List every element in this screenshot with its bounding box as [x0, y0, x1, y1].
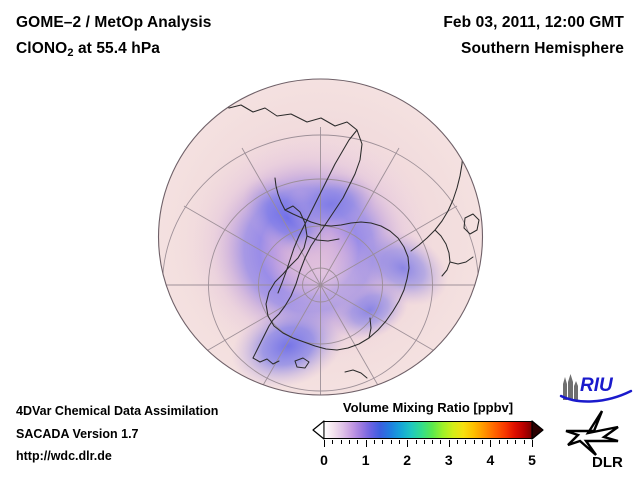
colorbar-major-tick [366, 440, 367, 447]
colorbar-minor-tick [399, 440, 400, 444]
colorbar-minor-tick [357, 440, 358, 444]
colorbar-major-tick [532, 440, 533, 447]
colorbar-tick-label: 3 [445, 452, 453, 468]
colorbar-major-tick [490, 440, 491, 447]
colorbar-tick-label: 1 [362, 452, 370, 468]
colorbar-tick-label: 4 [486, 452, 494, 468]
colorbar-strip [312, 420, 544, 440]
riu-tower-icon [563, 374, 578, 400]
colorbar-minor-tick [515, 440, 516, 444]
region-label: Southern Hemisphere [443, 36, 624, 62]
colorbar-tick-label: 5 [528, 452, 536, 468]
colorbar-right-cap [532, 421, 543, 439]
colorbar-ticks [324, 440, 532, 452]
globe-svg [157, 78, 484, 396]
colorbar-minor-tick [474, 440, 475, 444]
colorbar-title: Volume Mixing Ratio [ppbv] [312, 400, 544, 415]
colorbar-minor-tick [482, 440, 483, 444]
colorbar-minor-tick [524, 440, 525, 444]
globe-map [157, 78, 484, 396]
globe-field [159, 79, 483, 396]
colorbar-major-tick [324, 440, 325, 447]
colorbar-left-cap [313, 421, 324, 439]
colorbar-tick-label: 2 [403, 452, 411, 468]
header-left-block: GOME–2 / MetOp Analysis ClONO2 at 55.4 h… [16, 10, 212, 66]
colorbar-minor-tick [507, 440, 508, 444]
instrument-title: GOME–2 / MetOp Analysis [16, 10, 212, 36]
colorbar-minor-tick [432, 440, 433, 444]
datetime-label: Feb 03, 2011, 12:00 GMT [443, 10, 624, 36]
footer-credits: 4DVar Chemical Data Assimilation SACADA … [16, 400, 218, 468]
colorbar-major-tick [407, 440, 408, 447]
colorbar-minor-tick [374, 440, 375, 444]
riu-wordmark: RIU [580, 375, 614, 396]
colorbar-minor-tick [499, 440, 500, 444]
dlr-bird-icon [566, 411, 618, 455]
colorbar-minor-tick [465, 440, 466, 444]
dlr-logo: DLR [558, 407, 634, 471]
colorbar-minor-tick [349, 440, 350, 444]
colorbar-tick-label: 0 [320, 452, 328, 468]
species-name: ClONO [16, 40, 67, 57]
header-right-block: Feb 03, 2011, 12:00 GMT Southern Hemisph… [443, 10, 624, 62]
colorbar-minor-tick [440, 440, 441, 444]
colorbar-minor-tick [332, 440, 333, 444]
colorbar-tick-labels: 012345 [324, 452, 532, 472]
colorbar-minor-tick [457, 440, 458, 444]
riu-logo: RIU [557, 372, 635, 404]
species-title: ClONO2 at 55.4 hPa [16, 36, 212, 66]
colorbar-minor-tick [341, 440, 342, 444]
colorbar-minor-tick [391, 440, 392, 444]
footer-line-2: SACADA Version 1.7 [16, 423, 218, 446]
colorbar-minor-tick [416, 440, 417, 444]
colorbar-minor-tick [382, 440, 383, 444]
colorbar-gradient [324, 422, 532, 439]
dlr-wordmark: DLR [592, 454, 623, 471]
footer-url[interactable]: http://wdc.dlr.de [16, 445, 218, 468]
colorbar-minor-tick [424, 440, 425, 444]
colorbar-major-tick [449, 440, 450, 447]
colorbar-legend: Volume Mixing Ratio [ppbv] [312, 400, 544, 472]
footer-line-1: 4DVar Chemical Data Assimilation [16, 400, 218, 423]
species-level: at 55.4 hPa [74, 40, 161, 57]
